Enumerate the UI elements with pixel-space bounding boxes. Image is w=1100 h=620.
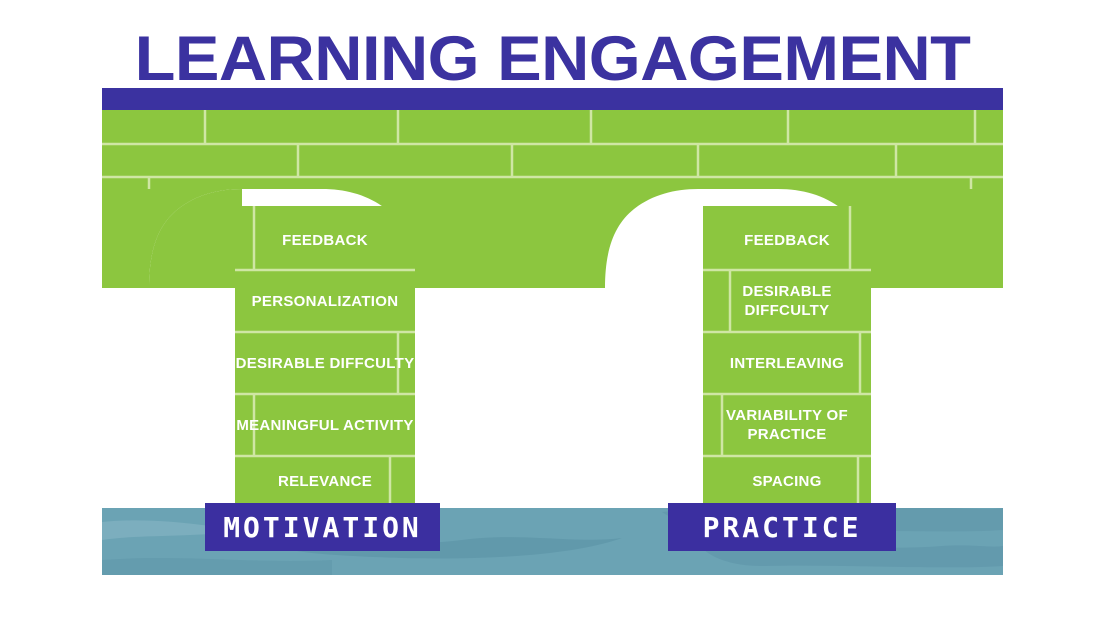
page-title: LEARNING ENGAGEMENT xyxy=(75,28,1030,90)
banner-practice: PRACTICE xyxy=(668,503,896,551)
infographic-canvas: LEARNING ENGAGEMENT FEEDBACK PERSONALIZA… xyxy=(0,0,1100,620)
banner-motivation-label: MOTIVATION xyxy=(223,511,422,544)
banner-motivation: MOTIVATION xyxy=(205,503,440,551)
bridge-final xyxy=(102,110,1003,508)
pillar-right-body xyxy=(703,206,871,508)
banner-practice-label: PRACTICE xyxy=(703,511,862,544)
pillar-left-body xyxy=(235,206,415,508)
bridge-structure xyxy=(102,88,1003,508)
